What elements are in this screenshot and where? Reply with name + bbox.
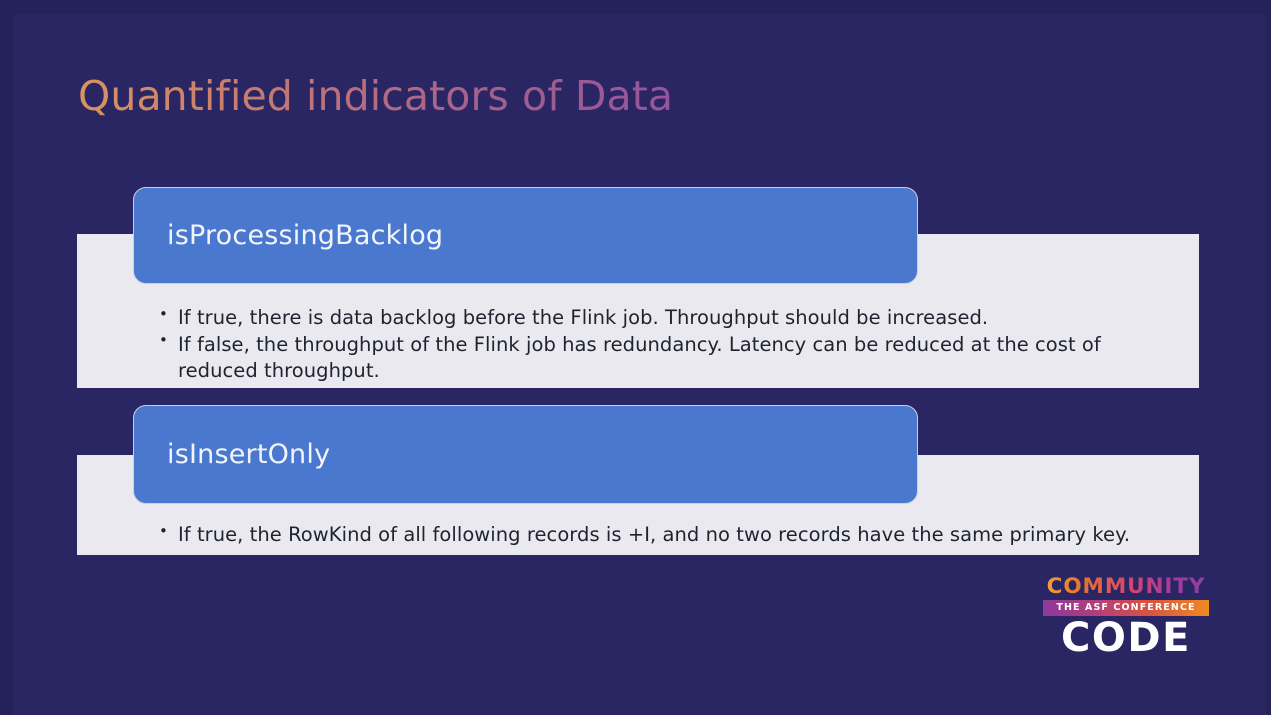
list-item: If true, the RowKind of all following re… — [157, 522, 1157, 548]
indicator-heading-box-1: isProcessingBacklog — [133, 187, 918, 284]
community-over-code-logo: COMMUNITY THE ASF CONFERENCE CODE — [1043, 576, 1209, 658]
indicator-bullet-list-1: If true, there is data backlog before th… — [157, 305, 1157, 384]
logo-community-text: COMMUNITY — [1043, 576, 1209, 598]
indicator-heading-label-2: isInsertOnly — [167, 439, 330, 470]
indicator-heading-box-2: isInsertOnly — [133, 405, 918, 504]
list-item: If false, the throughput of the Flink jo… — [157, 332, 1157, 384]
slide-edge-right — [1266, 0, 1271, 715]
slide-edge-left — [0, 0, 14, 715]
logo-code-text: CODE — [1043, 618, 1209, 659]
slide-edge-top — [0, 0, 1271, 14]
logo-gradient-bar: THE ASF CONFERENCE — [1043, 600, 1209, 616]
indicator-bullet-list-2: If true, the RowKind of all following re… — [157, 522, 1157, 548]
slide-title: Quantified indicators of Data — [78, 74, 673, 120]
list-item: If true, there is data backlog before th… — [157, 305, 1157, 331]
logo-bar-label: THE ASF CONFERENCE — [1056, 603, 1195, 613]
slide-canvas: Quantified indicators of Data isProcessi… — [0, 0, 1271, 715]
indicator-heading-label-1: isProcessingBacklog — [167, 220, 443, 251]
